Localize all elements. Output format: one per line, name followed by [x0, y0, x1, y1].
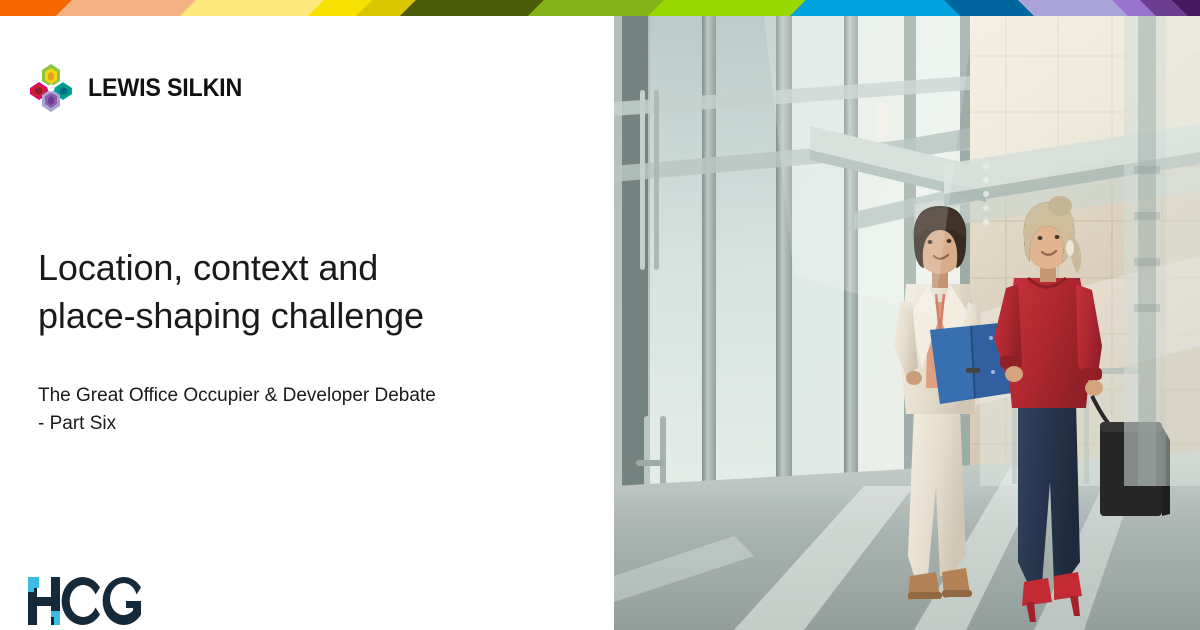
- brand-wordmark: LEWIS SILKIN: [88, 74, 242, 103]
- seg-olive: [400, 0, 544, 16]
- page-subtitle-line-1: The Great Office Occupier & Developer De…: [38, 382, 508, 410]
- seg-periwinkle: [1018, 0, 1128, 16]
- left-content-panel: LEWIS SILKIN Location, context and place…: [0, 16, 614, 630]
- page-title-line-2: place-shaping challenge: [38, 292, 508, 340]
- brand-lockup: LEWIS SILKIN: [26, 62, 254, 114]
- page-subtitle: The Great Office Occupier & Developer De…: [38, 382, 508, 437]
- seg-peach: [56, 0, 196, 16]
- slide-canvas: LEWIS SILKIN Location, context and place…: [0, 0, 1200, 630]
- page-subtitle-line-2: - Part Six: [38, 410, 508, 438]
- seg-green: [528, 0, 664, 16]
- brand-rainbow-bar-final: [0, 0, 1200, 16]
- seg-pale-yellow: [180, 0, 324, 16]
- hero-photo: [614, 16, 1200, 630]
- page-title-line-1: Location, context and: [38, 244, 508, 292]
- seg-cyan: [790, 0, 960, 16]
- lewis-silkin-flower-icon: [26, 62, 76, 114]
- hcg-logo: [26, 573, 146, 629]
- seg-lime: [648, 0, 806, 16]
- page-title: Location, context and place-shaping chal…: [38, 244, 508, 339]
